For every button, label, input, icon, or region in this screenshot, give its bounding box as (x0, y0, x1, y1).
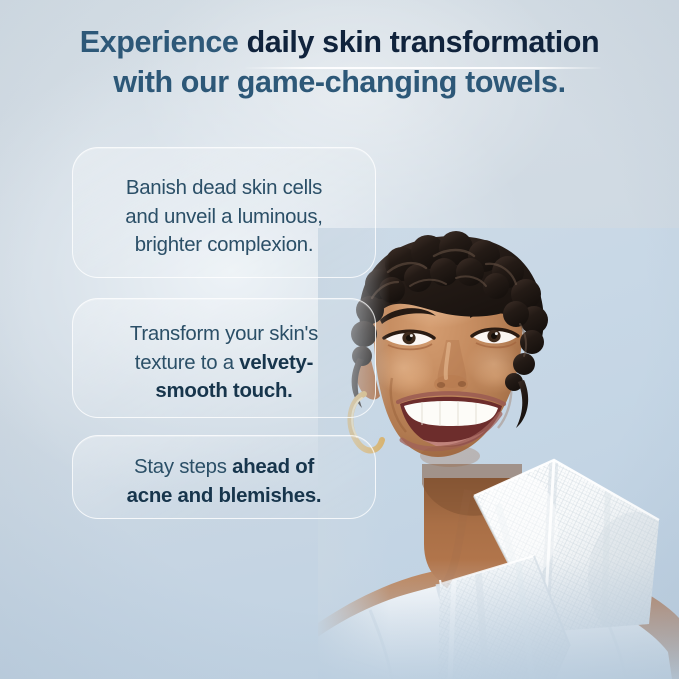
headline-word-experience: Experience (80, 25, 239, 59)
marketing-banner: Experience daily skin transformation wit… (0, 0, 679, 679)
card-line: Banish dead skin cells (87, 174, 361, 203)
benefit-card-text: Banish dead skin cells and unveil a lumi… (73, 174, 375, 260)
card-text-regular: Banish dead skin cells (126, 177, 322, 199)
headline-underlined-phrase: daily skin transformation (247, 24, 600, 62)
card-text-bold: smooth touch. (155, 380, 292, 402)
card-text-regular: texture to a (135, 352, 239, 374)
card-line: acne and blemishes. (87, 482, 361, 511)
card-line: brighter complexion. (87, 231, 361, 260)
card-text-bold: ahead of (232, 456, 314, 478)
card-text-bold: acne and blemishes. (127, 485, 322, 507)
card-line: and unveil a luminous, (87, 203, 361, 232)
card-line: Transform your skin's (87, 320, 361, 349)
card-text-regular: and unveil a luminous, (125, 206, 322, 228)
headline-line-1: Experience daily skin transformation (0, 24, 679, 62)
headline-line-2: with our game-changing towels. (0, 64, 679, 102)
headline: Experience daily skin transformation wit… (0, 24, 679, 102)
card-line: smooth touch. (87, 377, 361, 406)
benefit-card-text: Transform your skin's texture to a velve… (73, 320, 375, 406)
benefit-cards-list: Banish dead skin cells and unveil a lumi… (72, 147, 376, 519)
headline-phrase-emphasis: daily skin transformation (247, 25, 600, 59)
card-line: Stay steps ahead of (87, 453, 361, 482)
card-text-regular: Stay steps (134, 456, 232, 478)
benefit-card-exfoliation[interactable]: Banish dead skin cells and unveil a lumi… (72, 147, 376, 278)
card-text-regular: Transform your skin's (130, 323, 318, 345)
benefit-card-acne[interactable]: Stay steps ahead of acne and blemishes. (72, 435, 376, 519)
card-text-bold: velvety- (239, 352, 313, 374)
benefit-card-texture[interactable]: Transform your skin's texture to a velve… (72, 298, 376, 418)
benefit-card-text: Stay steps ahead of acne and blemishes. (73, 453, 375, 510)
card-line: texture to a velvety- (87, 349, 361, 378)
card-text-regular: brighter complexion. (135, 234, 314, 256)
